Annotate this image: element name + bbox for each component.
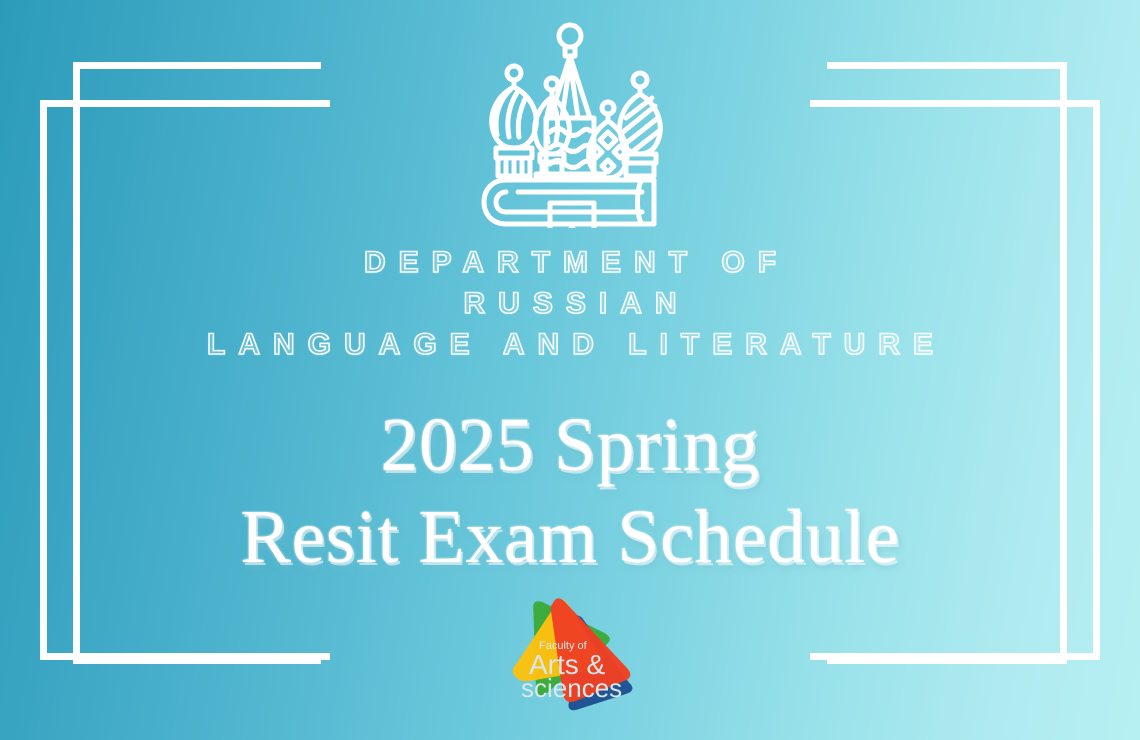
title-line-2: Resit Exam Schedule (0, 491, 1140, 583)
page-title: 2025 Spring Resit Exam Schedule (0, 399, 1140, 583)
poster-content: DEPARTMENT OF RUSSIAN LANGUAGE AND LITER… (0, 0, 1140, 740)
department-line-1: DEPARTMENT OF (0, 242, 1140, 283)
department-line-2: RUSSIAN (0, 283, 1140, 324)
logo-text-sciences: sciences (521, 673, 622, 703)
department-line-3: LANGUAGE AND LITERATURE (0, 324, 1140, 365)
department-name: DEPARTMENT OF RUSSIAN LANGUAGE AND LITER… (0, 242, 1140, 365)
title-line-1: 2025 Spring (0, 399, 1140, 491)
st-basils-cathedral-on-book-icon (472, 22, 668, 228)
faculty-of-arts-and-sciences-logo: Faculty of Arts & sciences (495, 597, 645, 723)
poster-canvas: DEPARTMENT OF RUSSIAN LANGUAGE AND LITER… (0, 0, 1140, 740)
